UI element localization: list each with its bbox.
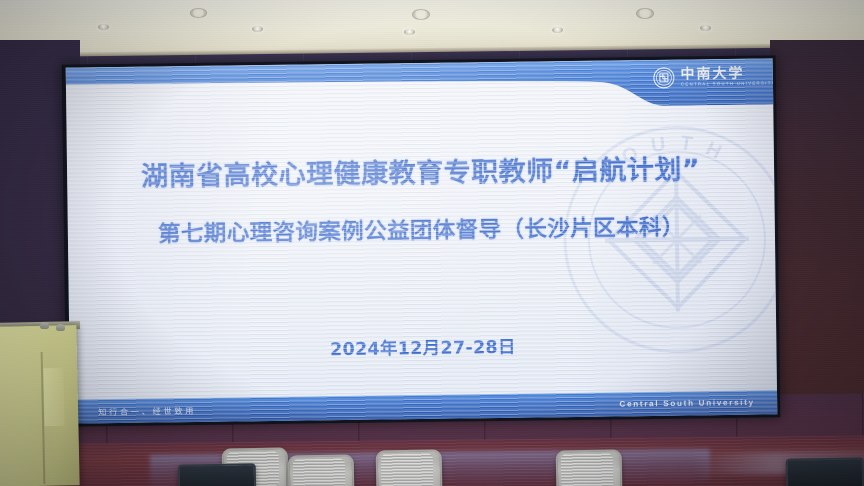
slide-title-main: 湖南省高校心理健康教育专职教师“启航计划” (67, 146, 774, 194)
chair-6-dark (786, 457, 864, 486)
podium-panel (43, 368, 64, 426)
chair-mesh (293, 459, 346, 486)
chair-5-dark (178, 463, 257, 486)
footer-university-name: Central South University (620, 399, 755, 409)
chair-back (288, 454, 355, 486)
downlight-1 (98, 24, 109, 30)
chair-back (556, 449, 623, 486)
podium-knob-left (40, 322, 49, 329)
chair-back (376, 449, 443, 486)
slide-title-sub: 第七期心理咨询案例公益团体督导（长沙片区本科） (68, 208, 775, 249)
slide-body: 湖南省高校心理健康教育专职教师“启航计划” 第七期心理咨询案例公益团体督导（长沙… (66, 58, 778, 423)
led-screen: SOUTH (66, 58, 778, 423)
downlight-6 (190, 8, 207, 18)
chair-mesh (561, 454, 614, 486)
chair-mesh (381, 454, 434, 486)
conference-hall-photo: SOUTH (0, 0, 864, 486)
downlight-5 (700, 25, 711, 31)
chair-3 (376, 449, 439, 486)
podium (0, 325, 80, 486)
downlight-7 (412, 9, 430, 20)
slide-date: 2024年12月27-28日 (69, 330, 776, 364)
chair-2 (288, 454, 351, 486)
right-wall (770, 40, 864, 400)
downlight-8 (636, 8, 654, 19)
downlight-2 (252, 26, 263, 32)
downlight-3 (404, 29, 415, 35)
podium-knob-right (56, 324, 65, 331)
downlight-4 (552, 27, 563, 33)
chair-4 (556, 449, 619, 486)
footer-motto: 知行合一、经世致用 (98, 404, 196, 418)
